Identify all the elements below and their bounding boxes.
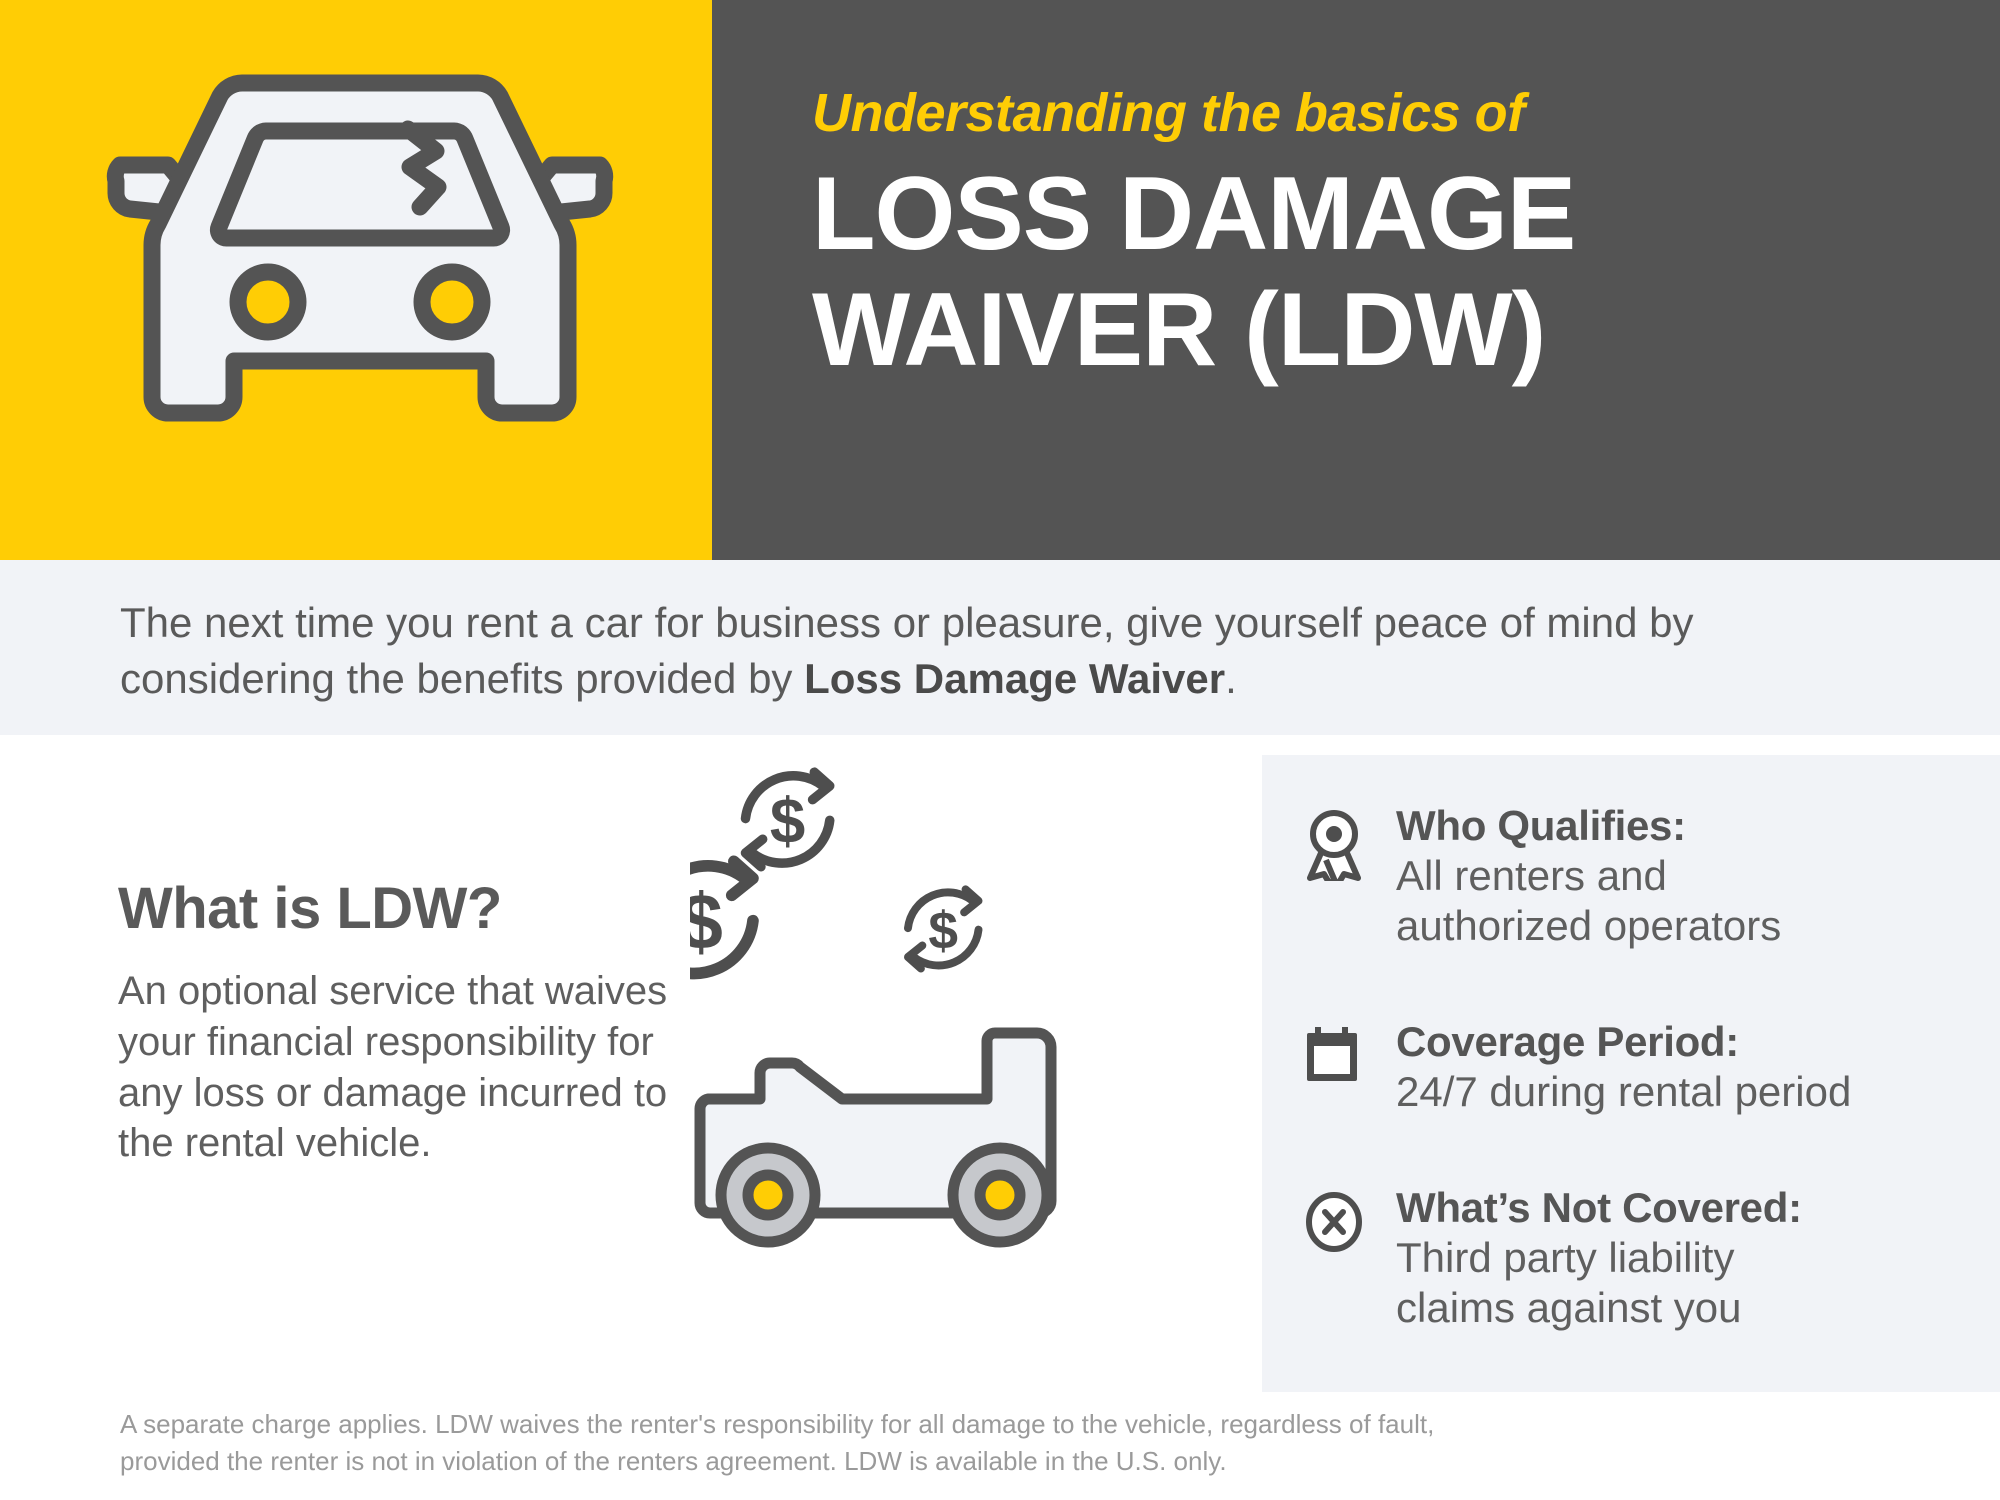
calendar-icon <box>1304 1017 1376 1096</box>
fact-who-qualifies: Who Qualifies: All renters and authorize… <box>1262 755 2000 951</box>
fact-not-covered-text: What’s Not Covered: Third party liabilit… <box>1376 1183 1802 1333</box>
fact-who-qualifies-text: Who Qualifies: All renters and authorize… <box>1376 801 1781 951</box>
fact-coverage-period: Coverage Period: 24/7 during rental peri… <box>1262 951 2000 1117</box>
header: Understanding the basics of LOSS DAMAGE … <box>0 0 2000 560</box>
dollar-refresh-icon-top: $ <box>745 772 829 867</box>
dollar-refresh-icon-left: $ <box>690 861 753 978</box>
intro-text-after: . <box>1225 655 1237 702</box>
fact-who-qualifies-value-line2: authorized operators <box>1396 901 1781 951</box>
fact-not-covered-value-line2: claims against you <box>1396 1283 1802 1333</box>
what-is-ldw-body: An optional service that waives your fin… <box>118 966 678 1169</box>
what-is-ldw-block: What is LDW? An optional service that wa… <box>118 875 678 1169</box>
footer: A separate charge applies. LDW waives th… <box>0 1392 2000 1500</box>
facts-list: Who Qualifies: All renters and authorize… <box>1262 755 2000 1334</box>
header-text-block: Understanding the basics of LOSS DAMAGE … <box>812 85 1872 389</box>
footer-disclaimer-line1: A separate charge applies. LDW waives th… <box>120 1406 1820 1443</box>
intro-emphasis: Loss Damage Waiver <box>804 655 1225 702</box>
dollar-refresh-icon-right: $ <box>908 889 979 968</box>
cracked-windshield-car-icon <box>90 55 630 505</box>
what-is-ldw-heading: What is LDW? <box>118 875 678 942</box>
page-title: LOSS DAMAGE WAIVER (LDW) <box>812 156 1872 389</box>
page-title-line2: WAIVER (LDW) <box>812 272 1872 388</box>
svg-text:$: $ <box>928 901 958 960</box>
money-and-truck-illustration: $ $ $ <box>690 745 1240 1365</box>
circle-x-icon <box>1304 1183 1376 1258</box>
footer-disclaimer-line2: provided the renter is not in violation … <box>120 1443 1820 1480</box>
fact-who-qualifies-label: Who Qualifies: <box>1396 801 1781 851</box>
fact-coverage-period-label: Coverage Period: <box>1396 1017 1851 1067</box>
svg-text:$: $ <box>690 877 723 965</box>
fact-not-covered-label: What’s Not Covered: <box>1396 1183 1802 1233</box>
page-title-line1: LOSS DAMAGE <box>812 156 1872 272</box>
intro-band: The next time you rent a car for busines… <box>0 560 2000 735</box>
fact-coverage-period-value-line1: 24/7 during rental period <box>1396 1067 1851 1117</box>
fact-who-qualifies-value-line1: All renters and <box>1396 851 1781 901</box>
infographic-page: Understanding the basics of LOSS DAMAGE … <box>0 0 2000 1500</box>
fact-not-covered: What’s Not Covered: Third party liabilit… <box>1262 1117 2000 1333</box>
award-ribbon-icon <box>1304 801 1376 886</box>
pickup-truck-side-icon <box>700 1033 1051 1242</box>
header-eyebrow: Understanding the basics of <box>812 85 1872 142</box>
intro-paragraph: The next time you rent a car for busines… <box>120 595 1910 708</box>
footer-disclaimer: A separate charge applies. LDW waives th… <box>120 1406 1820 1480</box>
main-content: What is LDW? An optional service that wa… <box>0 735 2000 1375</box>
svg-text:$: $ <box>770 786 805 857</box>
fact-coverage-period-text: Coverage Period: 24/7 during rental peri… <box>1376 1017 1851 1117</box>
fact-not-covered-value-line1: Third party liability <box>1396 1233 1802 1283</box>
